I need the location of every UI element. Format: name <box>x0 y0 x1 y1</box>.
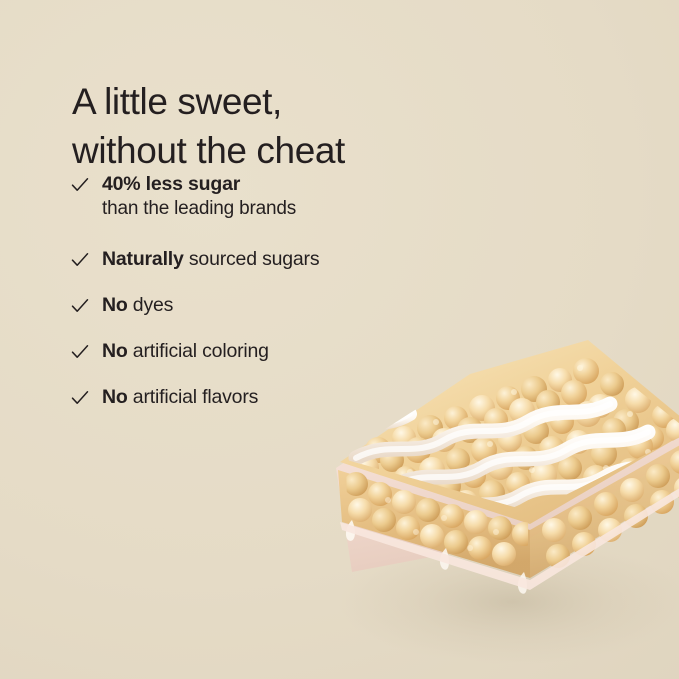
benefit-rest: artificial coloring <box>128 340 269 362</box>
benefit-text: No dyes <box>102 294 173 316</box>
benefit-rest: sourced sugars <box>184 248 320 270</box>
headline-line-1: A little sweet, <box>72 77 492 126</box>
benefit-text: No artificial flavors <box>102 386 258 408</box>
benefit-text: No artificial coloring <box>102 340 269 362</box>
check-icon <box>70 388 90 408</box>
benefit-rest: artificial flavors <box>128 386 259 408</box>
crispy-treat-bar-illustration <box>318 272 679 672</box>
promo-canvas: A little sweet, without the cheat 40% le… <box>0 0 679 679</box>
page-title: A little sweet, without the cheat <box>72 77 492 175</box>
list-item: Naturally sourced sugars <box>70 248 470 271</box>
check-icon <box>70 175 90 195</box>
check-icon <box>70 342 90 362</box>
benefit-rest: dyes <box>128 294 174 316</box>
check-icon <box>70 250 90 270</box>
benefit-text: 40% less sugar than the leading brands <box>102 173 470 222</box>
check-icon <box>70 296 90 316</box>
benefit-text: Naturally sourced sugars <box>102 248 319 270</box>
product-image <box>318 272 679 672</box>
benefit-strong: Naturally <box>102 248 184 270</box>
benefit-strong: 40% less sugar <box>102 173 240 195</box>
benefit-subtext: than the leading brands <box>102 197 470 222</box>
benefit-strong: No <box>102 340 128 362</box>
benefit-strong: No <box>102 294 128 316</box>
headline-line-2: without the cheat <box>72 126 492 175</box>
list-item: 40% less sugar than the leading brands <box>70 173 470 222</box>
benefit-strong: No <box>102 386 128 408</box>
